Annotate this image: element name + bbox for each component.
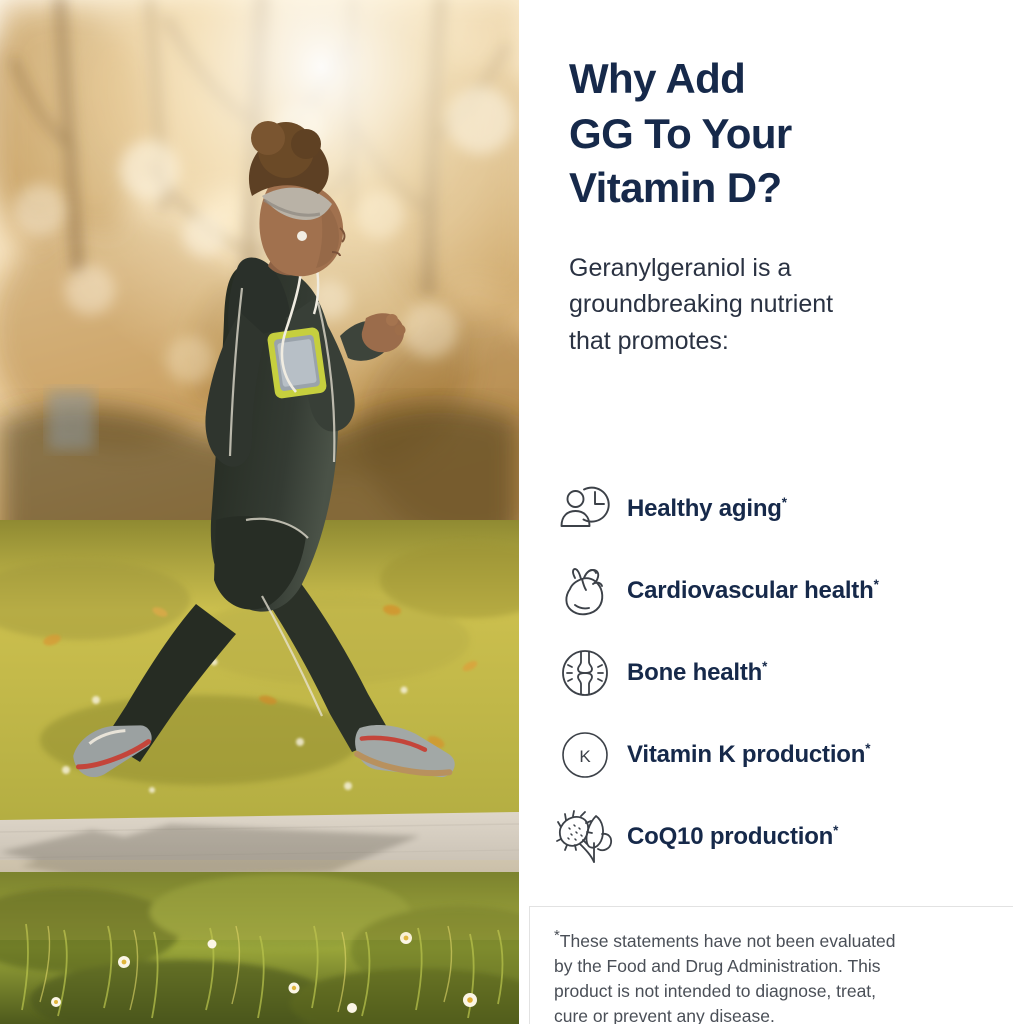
benefit-label-vitamin-k-production: Vitamin K production*: [621, 741, 870, 769]
benefits-list: Healthy aging*: [549, 468, 1019, 878]
disclaimer-line-4: cure or prevent any disease.: [554, 1004, 989, 1024]
runner-photo-illustration: [0, 0, 519, 1024]
benefit-label-bone-health: Bone health*: [621, 659, 767, 687]
benefit-label-cardiovascular-health: Cardiovascular health*: [621, 577, 879, 605]
hero-photo: [0, 0, 519, 1024]
headline-line-1: Why Add: [569, 52, 989, 107]
subheading-line-3: that promotes:: [569, 323, 989, 359]
bone-joint-circle-icon: [549, 642, 621, 704]
headline-line-2: GG To Your: [569, 107, 989, 162]
benefit-item-bone-health: Bone health*: [549, 632, 1019, 714]
anatomical-heart-icon: [549, 560, 621, 622]
disclaimer-line-1: *These statements have not been evaluate…: [554, 929, 989, 954]
disclaimer-line-2: by the Food and Drug Administration. Thi…: [554, 954, 989, 979]
subheading-line-1: Geranylgeraniol is a: [569, 250, 989, 286]
vitamin-k-circle-icon: K: [549, 724, 621, 786]
benefit-item-cardiovascular-health: Cardiovascular health*: [549, 550, 1019, 632]
promo-card: Why Add GG To Your Vitamin D? Geranylger…: [0, 0, 1024, 1024]
content-panel: Why Add GG To Your Vitamin D? Geranylger…: [519, 0, 1024, 1024]
disclaimer-text: *These statements have not been evaluate…: [554, 929, 989, 1024]
disclaimer-box: *These statements have not been evaluate…: [529, 906, 1013, 1024]
leaves-icon: [549, 806, 621, 868]
person-clock-icon: [549, 478, 621, 540]
disclaimer-line-3: product is not intended to diagnose, tre…: [554, 979, 989, 1004]
subheading: Geranylgeraniol is a groundbreaking nutr…: [569, 250, 989, 359]
benefit-label-coq10-production: CoQ10 production*: [621, 823, 838, 851]
benefit-item-healthy-aging: Healthy aging*: [549, 468, 1019, 550]
benefit-item-coq10-production: CoQ10 production*: [549, 796, 1019, 878]
benefit-item-vitamin-k-production: K Vitamin K production*: [549, 714, 1019, 796]
headline-line-3: Vitamin D?: [569, 161, 989, 216]
svg-text:K: K: [579, 747, 591, 766]
subheading-line-2: groundbreaking nutrient: [569, 286, 989, 322]
benefit-label-healthy-aging: Healthy aging*: [621, 495, 787, 523]
page-title: Why Add GG To Your Vitamin D?: [569, 52, 989, 216]
